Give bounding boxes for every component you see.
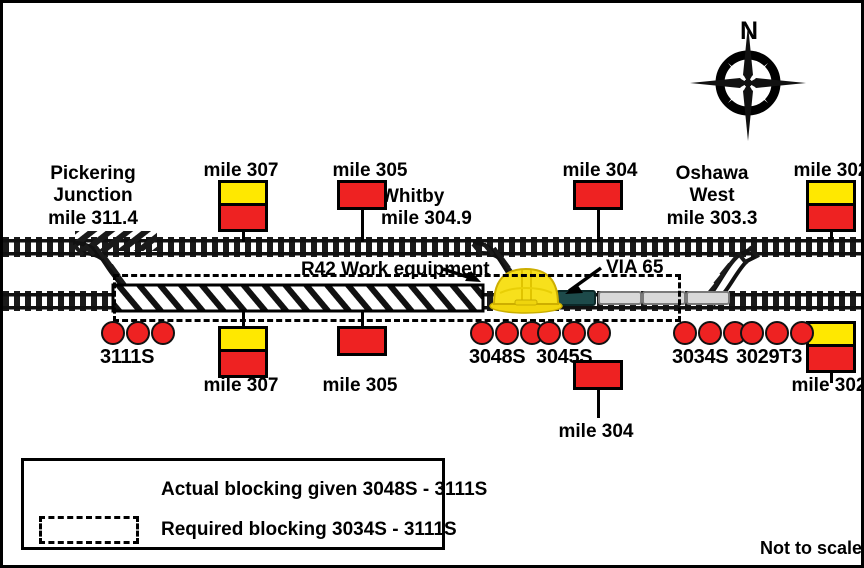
place-line: Oshawa — [651, 163, 773, 185]
place-label-pickering-junction: Pickering Junction mile 311.4 — [33, 163, 153, 230]
sign-label-mile-302-lower: mile 302 — [784, 375, 864, 397]
railway-blocking-diagram: Pickering Junction mile 311.4 Whitby mil… — [0, 0, 864, 568]
legend-label-required-blocking: Required blocking 3034S - 3111S — [161, 519, 457, 541]
signal-id-3111S: 3111S — [100, 346, 154, 370]
signal-lamp — [673, 321, 697, 345]
sign-label-mile-307-lower: mile 307 — [196, 375, 286, 397]
mile-sign-305-upper-stem — [361, 210, 364, 242]
signal-lamp — [562, 321, 586, 345]
place-line: Whitby — [381, 186, 511, 208]
legend-label-actual-blocking: Actual blocking given 3048S - 3111S — [161, 479, 487, 501]
signal-lamps-3045S — [537, 321, 611, 345]
place-line: Pickering — [33, 163, 153, 185]
signal-lamp — [470, 321, 494, 345]
signal-lamp — [698, 321, 722, 345]
sign-label-mile-305-lower: mile 305 — [315, 375, 405, 397]
signal-lamp — [151, 321, 175, 345]
legend-swatch-dashed — [39, 516, 139, 544]
signal-id-3048S: 3048S — [469, 346, 525, 370]
signal-lamp — [740, 321, 764, 345]
place-line: mile 303.3 — [651, 208, 773, 230]
sign-yellow-half — [809, 324, 853, 347]
signal-lamp — [101, 321, 125, 345]
not-to-scale-note: Not to scale — [760, 538, 862, 559]
mile-sign-307-lower — [218, 326, 268, 378]
mile-sign-305-lower — [337, 326, 387, 356]
mile-sign-305-lower-stem — [361, 311, 364, 327]
callout-work-equipment: R42 Work equipment — [301, 259, 490, 281]
signal-lamp — [495, 321, 519, 345]
sign-yellow-half — [809, 183, 853, 206]
place-line: Junction — [33, 185, 153, 207]
signal-id-3034S: 3034S — [672, 346, 728, 370]
mile-sign-304-lower-stem — [597, 390, 600, 418]
mile-sign-307-lower-stem — [242, 311, 245, 327]
mile-sign-304-upper — [573, 180, 623, 210]
place-label-oshawa-west: Oshawa West mile 303.3 — [651, 163, 773, 230]
signal-lamps-3111S — [101, 321, 175, 345]
mile-sign-307-upper-stem — [242, 232, 245, 242]
signal-id-3045S: 3045S — [536, 346, 592, 370]
mile-sign-304-upper-stem — [597, 210, 600, 242]
place-line: mile 304.9 — [381, 208, 511, 230]
sign-label-mile-304-lower: mile 304 — [551, 421, 641, 443]
signal-lamp — [126, 321, 150, 345]
signal-lamps-3029T3 — [740, 321, 814, 345]
place-label-whitby: Whitby mile 304.9 — [381, 186, 511, 231]
place-line: West — [651, 185, 773, 207]
place-line: mile 311.4 — [33, 208, 153, 230]
signal-lamp — [765, 321, 789, 345]
coach-3 — [687, 292, 729, 304]
legend-row-required-blocking: Required blocking 3034S - 3111S — [39, 516, 457, 544]
signal-id-3029T3: 3029T3 — [736, 346, 802, 370]
mile-sign-302-upper — [806, 180, 856, 232]
compass-north-label: N — [740, 17, 758, 47]
sign-yellow-half — [221, 183, 265, 206]
signal-lamp — [587, 321, 611, 345]
sign-yellow-half — [221, 329, 265, 352]
callout-via-65: VIA 65 — [606, 257, 663, 279]
mile-sign-302-upper-stem — [830, 232, 833, 242]
legend-row-actual-blocking: Actual blocking given 3048S - 3111S — [39, 476, 487, 504]
mile-sign-305-upper — [337, 180, 387, 210]
signal-lamps-3048S — [470, 321, 544, 345]
signal-lamp — [790, 321, 814, 345]
signal-lamps-3034S — [673, 321, 747, 345]
mile-sign-307-upper — [218, 180, 268, 232]
signal-lamp — [537, 321, 561, 345]
